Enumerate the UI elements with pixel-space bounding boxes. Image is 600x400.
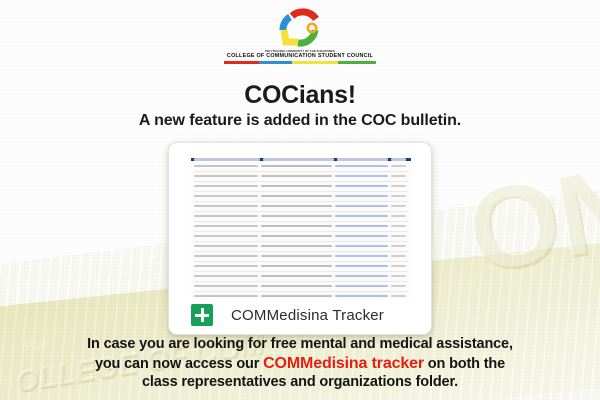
logo-bar-green <box>338 61 376 64</box>
bottom-copy-line-2: you can now access our COMMedisina track… <box>28 354 572 374</box>
table-row <box>194 213 408 222</box>
page-title: COCians! <box>0 82 600 109</box>
spreadsheet-thumbnail <box>191 158 411 298</box>
table-row <box>194 243 408 252</box>
table-row <box>194 253 408 262</box>
table-row <box>194 173 408 182</box>
logo-bar-blue <box>259 61 292 64</box>
logo-org-line-2: COLLEGE OF COMMUNICATION STUDENT COUNCIL <box>227 54 373 60</box>
logo-bar-red <box>224 61 259 64</box>
bottom-copy-line-2-pre: you can now access our <box>95 356 263 372</box>
poster-canvas: ON OLLEGE OF COM PUP POLYTECHNIC UNIVERS… <box>0 0 600 400</box>
logo-color-bar <box>224 61 376 64</box>
bottom-copy-line-1: In case you are looking for free mental … <box>28 336 572 354</box>
table-row <box>194 203 408 212</box>
drive-file-card[interactable]: COMMedisina Tracker <box>168 142 432 335</box>
table-row <box>194 163 408 172</box>
google-sheets-icon <box>191 304 213 326</box>
file-card-footer: COMMedisina Tracker <box>169 296 431 334</box>
bottom-copy: In case you are looking for free mental … <box>0 336 600 392</box>
logo-bar-yellow <box>292 61 338 64</box>
watermark-large-text: ON <box>457 136 600 300</box>
table-row <box>194 233 408 242</box>
headline-block: COCians! A new feature is added in the C… <box>0 82 600 130</box>
bottom-copy-line-2-post: on both the <box>424 356 505 372</box>
table-row <box>194 183 408 192</box>
bottom-copy-highlight: COMMedisina tracker <box>263 355 424 372</box>
coc-c-logo <box>270 6 330 50</box>
thumbnail-rows <box>191 161 411 298</box>
table-row <box>194 193 408 202</box>
file-name: COMMedisina Tracker <box>231 307 384 324</box>
table-row <box>194 223 408 232</box>
table-row <box>194 283 408 292</box>
bottom-copy-line-3: class representatives and organizations … <box>28 374 572 392</box>
table-row <box>194 263 408 272</box>
org-logo-lockup: POLYTECHNIC UNIVERSITY OF THE PHILIPPINE… <box>0 6 600 64</box>
page-subtitle: A new feature is added in the COC bullet… <box>0 112 600 130</box>
table-row <box>194 273 408 282</box>
